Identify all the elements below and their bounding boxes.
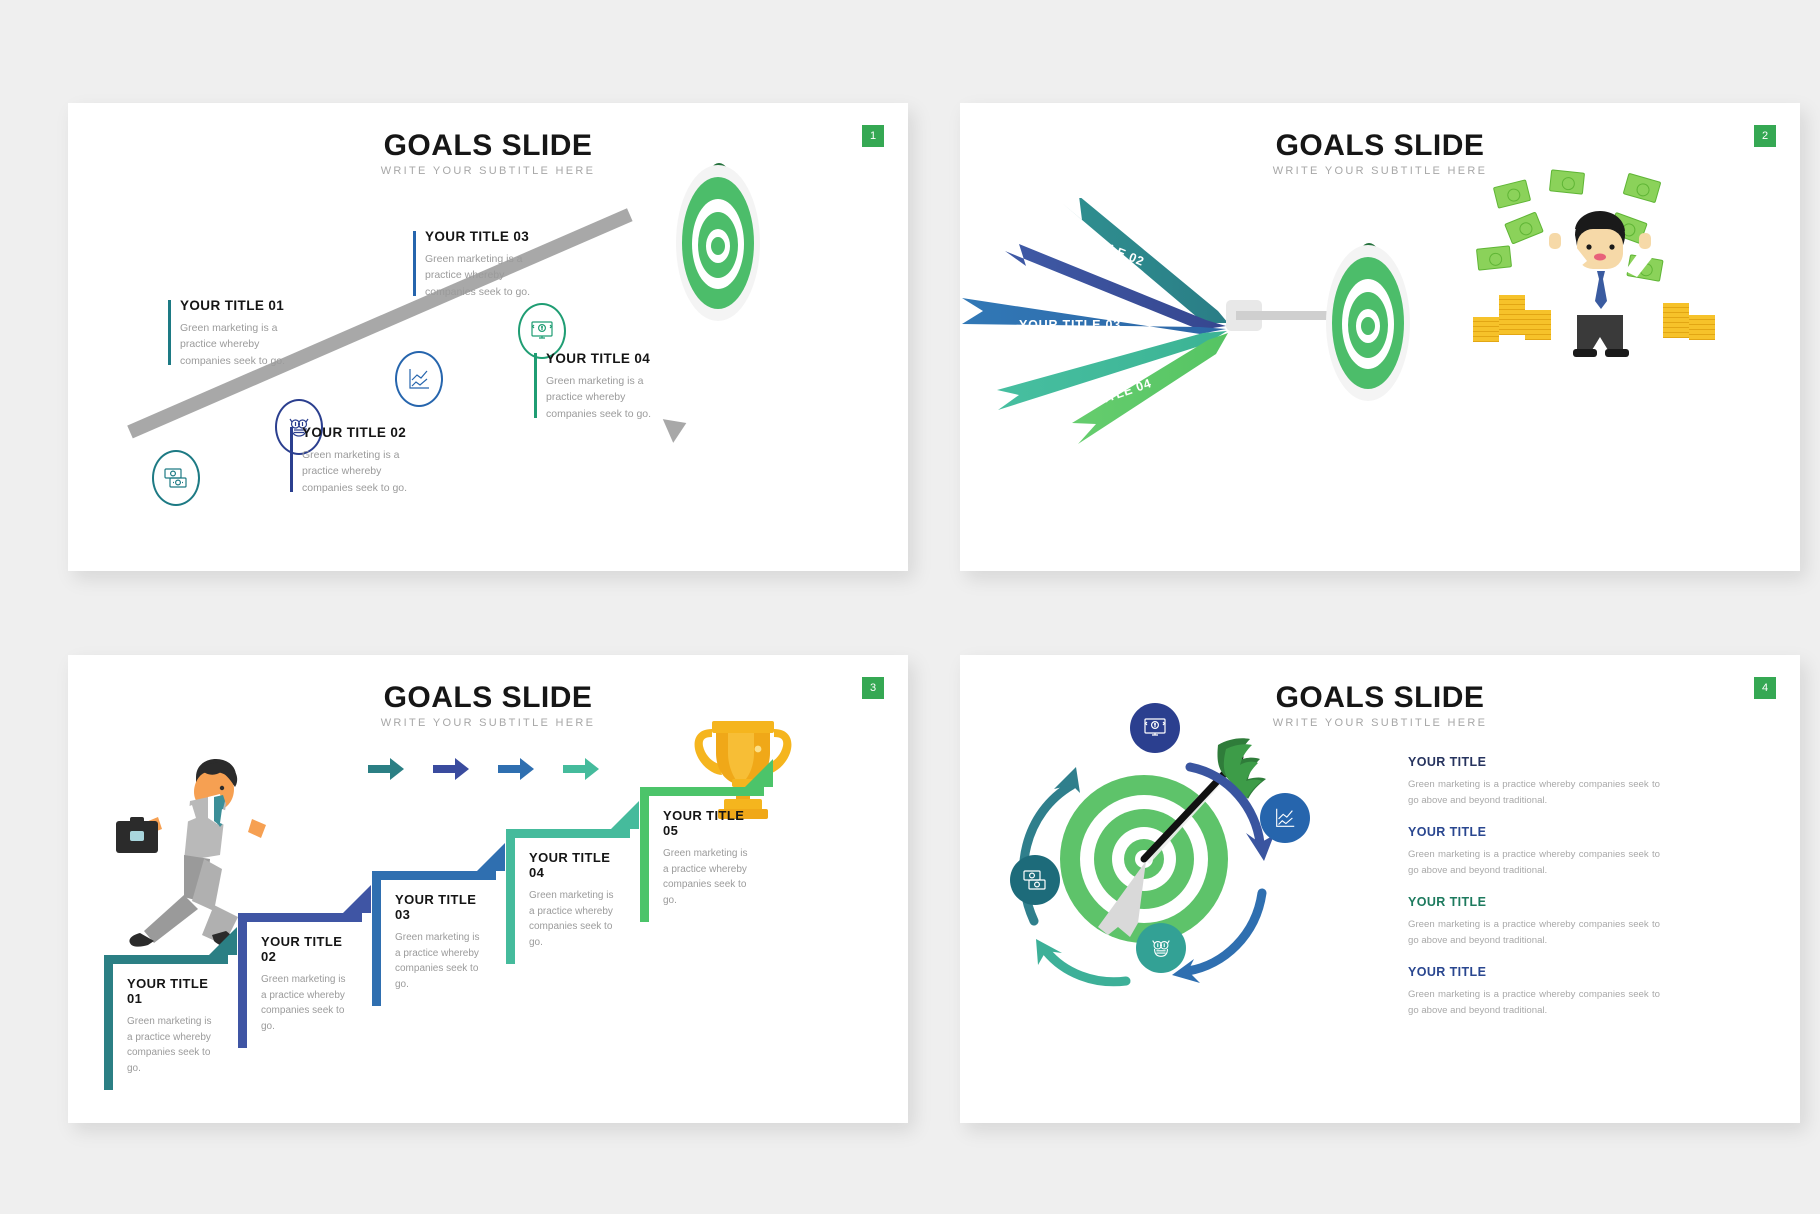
item-body: Green marketing is a practice whereby co… (1408, 777, 1660, 808)
list-item[interactable]: YOUR TITLE 01 Green marketing is a pract… (168, 298, 290, 369)
list-item[interactable]: YOUR TITLE 03 Green marketing is a pract… (413, 229, 535, 300)
step-title: YOUR TITLE 05 (663, 808, 754, 838)
item-title: YOUR TITLE 04 (546, 351, 656, 366)
target-illustration (1318, 243, 1428, 408)
step-title: YOUR TITLE 02 (261, 934, 352, 964)
item-body: Green marketing is a practice whereby co… (546, 373, 656, 422)
step-body: Green marketing is a practice whereby co… (127, 1014, 218, 1076)
item-body: Green marketing is a practice whereby co… (180, 320, 290, 369)
arrow-icon-1 (366, 755, 406, 783)
monitor-dollar-icon[interactable] (1130, 703, 1180, 753)
status-badge: 2 (1754, 125, 1776, 147)
money-man-illustration (1465, 165, 1765, 395)
banknote-icon (1549, 169, 1585, 194)
step-title: YOUR TITLE 01 (127, 976, 218, 1006)
target-illustration (668, 163, 778, 328)
ribbon-label-3[interactable]: YOUR TITLE 03 (980, 316, 1160, 334)
status-badge: 1 (862, 125, 884, 147)
banknote-icon[interactable] (152, 450, 200, 506)
slide-3[interactable]: GOALS SLIDE WRITE YOUR SUBTITLE HERE 3 (68, 655, 908, 1123)
banknote-icon (1476, 245, 1512, 270)
item-body: Green marketing is a practice whereby co… (1408, 847, 1660, 878)
list-item[interactable]: YOUR TITLE 04 Green marketing is a pract… (534, 351, 656, 422)
banknote-icon[interactable] (1010, 855, 1060, 905)
slide-1[interactable]: GOALS SLIDE WRITE YOUR SUBTITLE HERE 1 (68, 103, 908, 571)
item-body: Green marketing is a practice whereby co… (425, 251, 535, 300)
item-title: YOUR TITLE 03 (425, 229, 535, 244)
step-1[interactable]: YOUR TITLE 01 Green marketing is a pract… (104, 955, 228, 1090)
banknote-icon (1623, 173, 1662, 204)
slide-4[interactable]: GOALS SLIDE WRITE YOUR SUBTITLE HERE 4 (960, 655, 1800, 1123)
item-body: Green marketing is a practice whereby co… (302, 447, 412, 496)
item-title: YOUR TITLE 02 (302, 425, 412, 440)
step-4[interactable]: YOUR TITLE 04 Green marketing is a pract… (506, 829, 630, 964)
arrow-icon-4 (561, 755, 601, 783)
step-body: Green marketing is a practice whereby co… (529, 888, 620, 950)
owl-money-icon[interactable] (1136, 923, 1186, 973)
coin-stack (1473, 317, 1499, 342)
arrow-icon-2 (431, 755, 471, 783)
step-body: Green marketing is a practice whereby co… (261, 972, 352, 1034)
list-item[interactable]: YOUR TITLE 02 Green marketing is a pract… (290, 425, 412, 496)
item-title: YOUR TITLE (1408, 825, 1660, 839)
step-body: Green marketing is a practice whereby co… (395, 930, 486, 992)
list-item[interactable]: YOUR TITLE Green marketing is a practice… (1408, 895, 1660, 948)
status-badge: 4 (1754, 677, 1776, 699)
slide-deck: GOALS SLIDE WRITE YOUR SUBTITLE HERE 1 (0, 0, 1820, 1214)
item-title: YOUR TITLE (1408, 965, 1660, 979)
item-title: YOUR TITLE (1408, 895, 1660, 909)
step-title: YOUR TITLE 03 (395, 892, 486, 922)
coin-stack (1663, 303, 1689, 338)
page-subtitle: WRITE YOUR SUBTITLE HERE (68, 165, 908, 177)
item-title: YOUR TITLE (1408, 755, 1660, 769)
step-5[interactable]: YOUR TITLE 05 Green marketing is a pract… (640, 787, 764, 922)
item-body: Green marketing is a practice whereby co… (1408, 987, 1660, 1018)
step-body: Green marketing is a practice whereby co… (663, 846, 754, 908)
coin-stack (1499, 295, 1525, 335)
coin-stack (1689, 315, 1715, 340)
chart-icon[interactable] (395, 351, 443, 407)
chart-icon[interactable] (1260, 793, 1310, 843)
arrow-icon-3 (496, 755, 536, 783)
ribbon-label: YOUR TITLE 03 (1019, 318, 1121, 332)
step-2[interactable]: YOUR TITLE 02 Green marketing is a pract… (238, 913, 362, 1048)
page-title: GOALS SLIDE (68, 129, 908, 163)
banknote-icon (1493, 179, 1531, 209)
step-title: YOUR TITLE 04 (529, 850, 620, 880)
coin-stack (1525, 310, 1551, 340)
ascending-arrow-head (663, 411, 692, 443)
status-badge: 3 (862, 677, 884, 699)
step-3[interactable]: YOUR TITLE 03 Green marketing is a pract… (372, 871, 496, 1006)
list-item[interactable]: YOUR TITLE Green marketing is a practice… (1408, 965, 1660, 1018)
page-title: GOALS SLIDE (960, 681, 1800, 715)
item-body: Green marketing is a practice whereby co… (1408, 917, 1660, 948)
slide-2[interactable]: GOALS SLIDE WRITE YOUR SUBTITLE HERE 2 (960, 103, 1800, 571)
list-item[interactable]: YOUR TITLE Green marketing is a practice… (1408, 755, 1660, 808)
item-title: YOUR TITLE 01 (180, 298, 290, 313)
list-item[interactable]: YOUR TITLE Green marketing is a practice… (1408, 825, 1660, 878)
